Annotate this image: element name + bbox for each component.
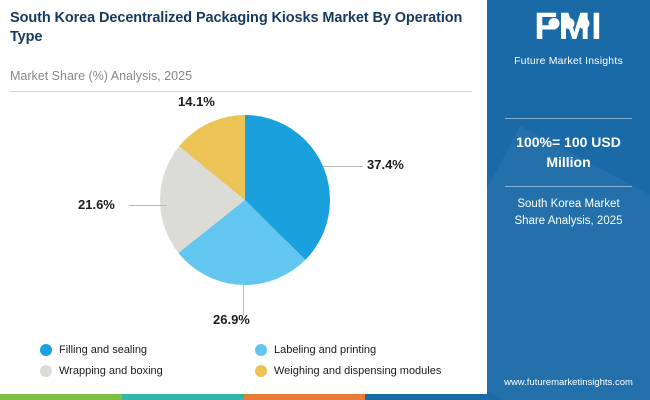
legend-row: Filling and sealing Labeling and printin…: [40, 344, 470, 356]
legend-label: Weighing and dispensing modules: [274, 365, 441, 377]
legend-item-filling-and-sealing[interactable]: Filling and sealing: [40, 344, 255, 356]
legend-item-weighing-and-dispensing-modules[interactable]: Weighing and dispensing modules: [255, 365, 470, 377]
branding-panel: FMI Future Market Insights 100%= 100 USD…: [487, 0, 650, 400]
legend-swatch-icon: [40, 365, 52, 377]
value-label-slice-3: 21.6%: [78, 197, 115, 212]
chart-subtitle: Market Share (%) Analysis, 2025: [10, 69, 192, 83]
panel-caption: South Korea Market Share Analysis, 2025: [487, 196, 650, 231]
fmi-logo-mark: FMI: [534, 8, 602, 46]
legend: Filling and sealing Labeling and printin…: [40, 344, 470, 386]
total-value-line2: Million: [487, 152, 650, 172]
value-label-slice-1: 37.4%: [367, 157, 404, 172]
pie-slices: [160, 115, 330, 285]
leader-line-slice-3: [129, 205, 167, 206]
legend-label: Labeling and printing: [274, 344, 376, 356]
bar-segment-blue: [365, 394, 487, 400]
page-title: South Korea Decentralized Packaging Kios…: [10, 9, 472, 46]
value-label-slice-2: 26.9%: [213, 312, 250, 327]
legend-item-wrapping-and-boxing[interactable]: Wrapping and boxing: [40, 365, 255, 377]
legend-row: Wrapping and boxing Weighing and dispens…: [40, 365, 470, 377]
fmi-tagline: Future Market Insights: [487, 55, 650, 67]
panel-caption-line2: Share Analysis, 2025: [487, 213, 650, 230]
bar-segment-orange: [244, 394, 366, 400]
leader-line-slice-1: [323, 166, 363, 167]
bottom-color-bar: [0, 394, 487, 400]
legend-swatch-icon: [255, 344, 267, 356]
legend-swatch-icon: [40, 344, 52, 356]
website-url[interactable]: www.futuremarketinsights.com: [487, 377, 650, 388]
legend-swatch-icon: [255, 365, 267, 377]
legend-label: Filling and sealing: [59, 344, 147, 356]
chart-infographic: South Korea Decentralized Packaging Kios…: [0, 0, 650, 400]
legend-item-labeling-and-printing[interactable]: Labeling and printing: [255, 344, 470, 356]
fmi-logo-dots-icon: [548, 18, 589, 29]
chart-panel: South Korea Decentralized Packaging Kios…: [0, 0, 487, 400]
value-label-slice-4: 14.1%: [178, 94, 215, 109]
branding-divider-bottom: [505, 186, 632, 187]
leader-line-slice-2: [243, 285, 244, 315]
bar-segment-teal: [122, 394, 244, 400]
header-divider: [10, 91, 472, 92]
fmi-logo: FMI Future Market Insights: [487, 8, 650, 67]
total-value-line1: 100%= 100 USD: [487, 132, 650, 152]
legend-label: Wrapping and boxing: [59, 365, 163, 377]
pie-chart: [160, 115, 330, 285]
bar-segment-green: [0, 394, 122, 400]
panel-caption-line1: South Korea Market: [487, 196, 650, 213]
branding-divider-top: [505, 118, 632, 119]
total-value-note: 100%= 100 USD Million: [487, 132, 650, 173]
